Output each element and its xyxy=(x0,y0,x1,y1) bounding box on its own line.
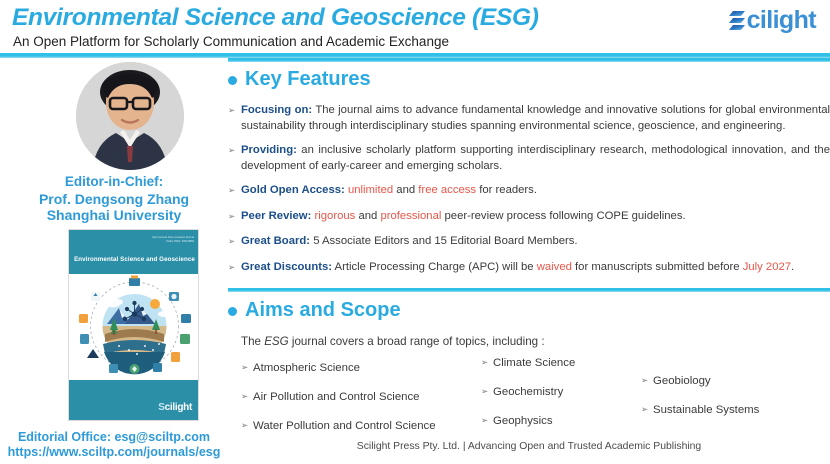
scilight-logo[interactable]: cilight xyxy=(729,8,816,33)
key-feature-text: Article Processing Charge (APC) will be xyxy=(332,261,537,273)
key-feature-text: . xyxy=(791,261,794,273)
topic-item: ➢Air Pollution and Control Science xyxy=(241,391,420,403)
key-features-heading-label: Key Features xyxy=(245,68,371,91)
main-content: Key Features ➢Focusing on: The journal a… xyxy=(228,58,830,440)
key-feature-text: an inclusive scholarly platform supporti… xyxy=(241,144,830,172)
cover-top-band: Open Access Peer-reviewed Journal Online… xyxy=(69,230,199,274)
intro-pre: The xyxy=(241,335,264,348)
bullet-arrow-icon: ➢ xyxy=(241,362,248,373)
topic-label: Air Pollution and Control Science xyxy=(253,391,420,403)
key-feature-highlight: free access xyxy=(418,184,476,196)
key-feature-item: ➢Gold Open Access: unlimited and free ac… xyxy=(228,183,830,199)
aims-scope-heading-label: Aims and Scope xyxy=(245,299,401,322)
page-title: Environmental Science and Geoscience (ES… xyxy=(12,4,539,32)
editor-name: Prof. Dengsong Zhang xyxy=(0,191,228,208)
page-header: Environmental Science and Geoscience (ES… xyxy=(0,0,830,53)
key-feature-text: and xyxy=(393,184,418,196)
bullet-arrow-icon: ➢ xyxy=(228,143,235,159)
editor-in-chief-block: Editor-in-Chief: Prof. Dengsong Zhang Sh… xyxy=(0,174,228,224)
key-feature-text: The journal aims to advance fundamental … xyxy=(241,104,830,132)
aims-scope-heading: Aims and Scope xyxy=(228,299,830,322)
intro-journal-abbrev: ESG xyxy=(264,335,288,348)
editorial-office-url[interactable]: https://www.sciltp.com/journals/esg xyxy=(0,445,228,460)
left-sidebar: Editor-in-Chief: Prof. Dengsong Zhang Sh… xyxy=(0,58,228,428)
key-feature-highlight: professional xyxy=(380,210,441,222)
topic-item: ➢Sustainable Systems xyxy=(641,404,759,416)
bullet-dot-icon xyxy=(228,307,237,316)
cover-illustration xyxy=(69,274,199,378)
key-feature-highlight: waived xyxy=(537,261,572,273)
key-features-heading: Key Features xyxy=(228,68,830,91)
topic-item: ➢Geophysics xyxy=(481,415,553,427)
topic-item: ➢Climate Science xyxy=(481,357,575,369)
bullet-arrow-icon: ➢ xyxy=(228,234,235,250)
cover-title: Environmental Science and Geoscience xyxy=(69,256,199,263)
topic-item: ➢Water Pollution and Control Science xyxy=(241,420,436,432)
bullet-arrow-icon: ➢ xyxy=(241,391,248,402)
key-feature-label: Providing: xyxy=(241,144,297,156)
topic-label: Climate Science xyxy=(493,357,575,369)
key-feature-highlight: unlimited xyxy=(348,184,393,196)
key-feature-item: ➢Great Board: 5 Associate Editors and 15… xyxy=(228,234,830,250)
key-feature-label: Focusing on: xyxy=(241,104,312,116)
key-feature-text: and xyxy=(355,210,380,222)
bullet-arrow-icon: ➢ xyxy=(241,420,248,431)
bullet-arrow-icon: ➢ xyxy=(481,357,488,368)
intro-post: journal covers a broad range of topics, … xyxy=(289,335,545,348)
cover-scilight-logo: Scilight xyxy=(158,402,192,413)
editorial-office: Editorial Office: esg@sciltp.com https:/… xyxy=(0,430,228,460)
topic-label: Geochemistry xyxy=(493,386,563,398)
key-features-list: ➢Focusing on: The journal aims to advanc… xyxy=(228,103,830,275)
key-feature-text: for manuscripts submitted before xyxy=(572,261,743,273)
journal-cover[interactable]: Open Access Peer-reviewed Journal Online… xyxy=(68,229,199,421)
page-footer: Scilight Press Pty. Ltd. | Advancing Ope… xyxy=(228,441,830,452)
editor-affiliation: Shanghai University xyxy=(0,207,228,224)
bullet-arrow-icon: ➢ xyxy=(481,386,488,397)
cover-bottom-band: Scilight xyxy=(69,380,199,420)
bullet-arrow-icon: ➢ xyxy=(228,260,235,276)
topic-label: Water Pollution and Control Science xyxy=(253,420,436,432)
topic-item: ➢Geochemistry xyxy=(481,386,563,398)
bullet-arrow-icon: ➢ xyxy=(641,404,648,415)
scilight-wordmark: cilight xyxy=(747,8,816,33)
key-feature-label: Great Board: xyxy=(241,235,310,247)
key-feature-text: 5 Associate Editors and 15 Editorial Boa… xyxy=(310,235,578,247)
scilight-s-icon xyxy=(729,8,746,33)
topic-label: Atmospheric Science xyxy=(253,362,360,374)
aims-scope-intro: The ESG journal covers a broad range of … xyxy=(241,335,830,348)
aims-scope-divider xyxy=(228,288,830,292)
page-subtitle: An Open Platform for Scholarly Communica… xyxy=(13,34,449,49)
topic-label: Geophysics xyxy=(493,415,553,427)
key-feature-label: Great Discounts: xyxy=(241,261,332,273)
poster-page: Environmental Science and Geoscience (ES… xyxy=(0,0,830,464)
key-feature-item: ➢Great Discounts: Article Processing Cha… xyxy=(228,260,830,276)
bullet-arrow-icon: ➢ xyxy=(228,209,235,225)
topic-item: ➢Atmospheric Science xyxy=(241,362,360,374)
key-feature-text: for readers. xyxy=(476,184,537,196)
key-feature-item: ➢Focusing on: The journal aims to advanc… xyxy=(228,103,830,134)
key-feature-item: ➢Peer Review: rigorous and professional … xyxy=(228,209,830,225)
cover-brand-word: cilight xyxy=(165,402,192,413)
topic-item: ➢Geobiology xyxy=(641,375,711,387)
topic-label: Geobiology xyxy=(653,375,711,387)
bullet-dot-icon xyxy=(228,76,237,85)
cover-issn: Open Access Peer-reviewed Journal Online… xyxy=(152,236,194,243)
key-feature-highlight: rigorous xyxy=(314,210,355,222)
bullet-arrow-icon: ➢ xyxy=(641,375,648,386)
bullet-arrow-icon: ➢ xyxy=(228,183,235,199)
editorial-office-email[interactable]: Editorial Office: esg@sciltp.com xyxy=(0,430,228,445)
key-feature-label: Gold Open Access: xyxy=(241,184,345,196)
editor-role-label: Editor-in-Chief: xyxy=(0,174,228,191)
editor-portrait xyxy=(76,62,184,170)
key-feature-highlight: July 2027 xyxy=(743,261,791,273)
bullet-arrow-icon: ➢ xyxy=(228,103,235,119)
key-features-divider xyxy=(228,58,830,62)
bullet-arrow-icon: ➢ xyxy=(481,415,488,426)
key-feature-item: ➢Providing: an inclusive scholarly platf… xyxy=(228,143,830,174)
topic-label: Sustainable Systems xyxy=(653,404,759,416)
key-feature-label: Peer Review: xyxy=(241,210,311,222)
topics-grid: ➢Atmospheric Science➢Air Pollution and C… xyxy=(241,362,830,440)
cover-issn-line2: Online ISSN: 3060-8583 xyxy=(152,240,194,244)
key-feature-text: peer-review process following COPE guide… xyxy=(441,210,685,222)
